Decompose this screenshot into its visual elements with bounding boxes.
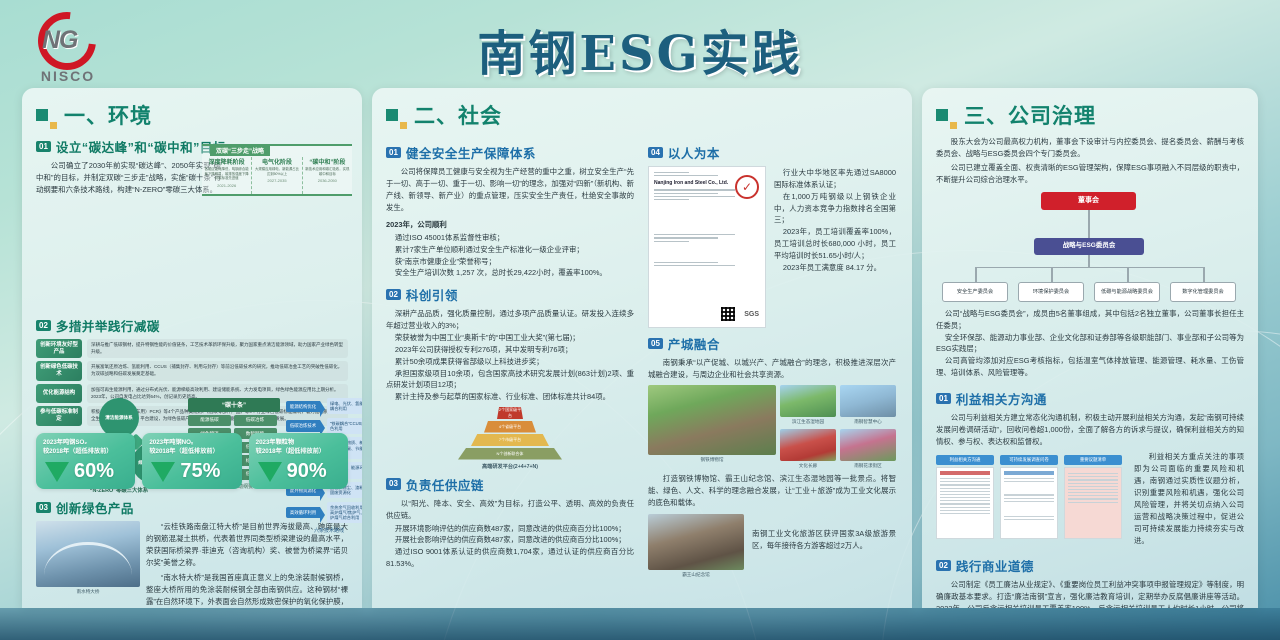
photo-caption: 南钢智慧中心 (840, 419, 896, 425)
measure-text: 开展富氧还原冶炼、氢能利用、CCUS（捕集封存、利用与封存）等前沿低碳技术的研究… (87, 361, 348, 381)
panel-governance: 三、公司治理 股东大会为公司最高权力机构，董事会下设审计与内控委员会、提名委员会… (922, 88, 1258, 608)
bullet-item: 承担国家级项目10余项，包含国家高技术研究发展计划(863计划)2项、重点研发计… (386, 368, 634, 392)
qr-code-icon (721, 307, 735, 321)
badge-number: 01 (936, 393, 951, 404)
bullet-item: 安全生产培训次数 1,257 次，总时长29,422小时，覆盖率100%。 (386, 267, 634, 279)
stat-row: 75% (149, 460, 234, 483)
subsection-title: 以人为本 (668, 143, 720, 162)
strategy-step-desc: 大规模应用绿电，新能源占比达到50%以上 (254, 167, 299, 176)
stakeholder-tab: 重要议题清单 (1064, 455, 1122, 465)
org-node-leaf: 安全生产委员会 (942, 282, 1008, 302)
square-green-icon (36, 109, 48, 121)
section-header-society: 二、社会 (386, 100, 898, 130)
stat-label: 2023年吨钢SO₂较2018年（超低排放前） (43, 439, 128, 456)
badge-number: 02 (36, 320, 51, 331)
org-node-leaf: 数字化管理委员会 (1170, 282, 1236, 302)
tech-route-row: 高效循环利用余热余气回收利用、高炉煤气/焦炉气、转炉煤气综合利用 (286, 502, 362, 524)
section-title: 三、公司治理 (964, 100, 1096, 130)
stat-row: 60% (43, 460, 128, 483)
org-connector (1088, 210, 1090, 238)
pyramid-caption: 高端研发平台(2+4+7+N) (386, 463, 634, 470)
pyramid-level: 7个市级平台 (471, 434, 549, 446)
screenshot-material-topics (936, 467, 994, 539)
three-step-strategy-chart: 双碳“三步走”战略 深度降耗阶段 各能区能耗降低，吨钢综合能耗下降明显，碳排放强… (202, 144, 352, 196)
bullet-item: 2023年，员工培训覆盖率100%，员工培训总时长680,000 小时，员工平均… (774, 226, 896, 262)
tech-route-tag: 能源结构优化 (286, 401, 320, 412)
ten-measures-header: “碳十条” (188, 398, 280, 412)
measure-row: 创新绿色低碳技术开展富氧还原冶炼、氢能利用、CCUS（捕集封存、利用与封存）等前… (36, 361, 348, 381)
gov-01-side-body: 利益相关方重点关注的事项即为公司面临的重要风险和机遇，南钢通过实质性议题分析，识… (1134, 451, 1244, 547)
bullet-item: 开展社会影响评估的供应商数487家，同意改进的供应商百分比100%； (386, 534, 634, 546)
emission-stat-cards: 2023年吨钢SO₂较2018年（超低排放前）60%2023年吨钢NOₓ较201… (36, 433, 348, 489)
subsection-title: 负责任供应链 (406, 475, 484, 494)
photo-caption: 南钢花漾街区 (840, 463, 896, 469)
stat-card: 2023年颗粒物较2018年（超低排放前）90% (249, 433, 348, 489)
stat-row: 90% (256, 460, 341, 483)
stat-label: 2023年吨钢NOₓ较2018年（超低排放前） (149, 439, 234, 456)
nzero-circle: 清洁能源体系 (99, 398, 139, 438)
bullet-item: 荣获被誉为中国工业“奥斯卡”的“中国工业大奖”(第七届)； (386, 332, 634, 344)
bullet-item: 累计主持及参与起草的国家标准、行业标准、团体标准共计84项。 (386, 391, 634, 403)
photo-smart-center (840, 385, 896, 417)
strategy-step: 深度降耗阶段 各能区能耗降低，吨钢综合能耗下降明显，碳排放强度下降到碳标准先进值… (202, 157, 252, 194)
badge-number: 01 (36, 141, 51, 152)
panel-society: 二、社会 01 健全安全生产保障体系 公司将保障员工健康与安全视为生产经营的重中… (372, 88, 912, 608)
bullet-item: 2023年公司获得授权专利276项，其中发明专利76项； (386, 344, 634, 356)
stat-card: 2023年吨钢SO₂较2018年（超低排放前）60% (36, 433, 135, 489)
stat-value: 60% (74, 460, 114, 483)
bullet-item: 公司高管均添加对应ESG考核指标，包括温室气体排放管理、能源管理、耗水量、工伤管… (936, 355, 1244, 379)
photo-caption: 霸王山纪念馆 (648, 572, 744, 578)
stat-value: 90% (287, 460, 327, 483)
soc-01-bullets: 通过ISO 45001体系监督性审核；累计7家生产单位顺利通过安全生产标准化一级… (386, 232, 634, 279)
measure-text: 深耕与推广低碳钢材，提升特钢性能的价值链条，工艺技术革新环保升级，聚力国家重点清… (87, 339, 348, 359)
badge-number: 03 (386, 478, 401, 489)
ten-measure-item: 能源低碳 (188, 415, 231, 426)
six-routes-caption: 六条技术路线 (286, 527, 362, 534)
soc-01-year-lead: 2023年，公司顺利 (386, 219, 634, 231)
tech-route-desc: 绿电、光伏、氢能源耦合利用 (327, 398, 362, 415)
sgs-mark: SGS (744, 311, 759, 318)
strategy-step-years: 2027-2035 (254, 178, 299, 183)
photo-steel-museum (648, 385, 776, 455)
strategy-step-name: “碳中和”阶段 (305, 157, 350, 166)
soc-03-bullets: 开展环境影响评估的供应商数487家，同意改进的供应商百分比100%；开展社会影响… (386, 523, 634, 570)
photo-flower-street (840, 429, 896, 461)
down-arrow-icon (151, 462, 175, 482)
subsection-header-soc-01: 01 健全安全生产保障体系 (386, 143, 634, 162)
env-01-body: 公司确立了2030年前实现“碳达峰”、2050年实现“碳中和”的目标，并制定双碳… (36, 160, 221, 196)
soc-05-body3: 南钢工业文化旅游区获评国家3A级旅游景区，每年接待各方游客超过2万人。 (752, 514, 896, 552)
stakeholder-tab: 可持续发展调查问卷 (1000, 455, 1058, 465)
strategy-step-years: 2021-2026 (204, 183, 249, 188)
bullet-item: 行业大中华地区率先通过SA8000国际标准体系认证； (774, 167, 896, 191)
photo-caption: 南水特大桥 (36, 589, 140, 595)
stat-label: 2023年颗粒物较2018年（超低排放前） (256, 439, 341, 456)
photo-culture-corridor (780, 429, 836, 461)
measure-tag: 创新绿色低碳技术 (36, 361, 82, 381)
badge-number: 02 (936, 560, 951, 571)
sa8000-certificate-image: Nanjing Iron and Steel Co., Ltd. ✓ SGS (648, 166, 766, 328)
org-connector (1088, 255, 1090, 267)
org-connector (975, 267, 977, 282)
strategy-step: “碳中和”阶段 新技术应用和碳汇吸收，实现碳中和目标 2036-2050 (303, 157, 352, 194)
stakeholder-tabs: 利益相关方沟通可持续发展调查问卷重要议题清单 (936, 455, 1126, 465)
org-node-leaf: 环境保护委员会 (1018, 282, 1084, 302)
photo-wetland-park (780, 385, 836, 417)
down-arrow-icon (45, 462, 69, 482)
stat-value: 75% (180, 460, 220, 483)
photo-caption: 钢铁博物馆 (648, 457, 776, 463)
org-node-leaf: 低碳与能源战略委员会 (1094, 282, 1160, 302)
bullet-item: 累计7家生产单位顺利通过安全生产标准化一级企业评审； (386, 244, 634, 256)
square-yellow-icon (400, 122, 407, 129)
section-title: 二、社会 (414, 100, 502, 130)
bullet-item: 安全环保部、能源动力事业部、企业文化部和证券部等各级职能部门、事业部和子公司等为… (936, 332, 1244, 356)
env-03-p2: “南水特大桥”是我国首座真正意义上的免涂装耐候钢桥，整座大桥所用的免涂装耐候钢全… (146, 572, 348, 608)
gov-bullets: 公司“战略与ESG委员会”，成员由5名董事组成，其中包括2名独立董事，公司董事长… (936, 308, 1244, 379)
subsection-header-soc-04: 04 以人为本 (648, 143, 896, 162)
section-header-environment: 一、环境 (36, 100, 348, 130)
strategy-step-name: 深度降耗阶段 (204, 157, 249, 166)
org-connector (975, 267, 1203, 269)
pyramid-level: 2个国家级平台 (497, 407, 523, 419)
badge-number: 02 (386, 289, 401, 300)
bullet-item: 公司“战略与ESG委员会”，成员由5名董事组成，其中包括2名独立董事，公司董事长… (936, 308, 1244, 332)
tech-route-desc: 余热余气回收利用、高炉煤气/焦炉气、转炉煤气综合利用 (327, 502, 362, 524)
gov-intro-2: 公司已建立覆盖全面、权责清晰的ESG管理架构，保障ESG事项融入不同层级的职责中… (936, 162, 1244, 186)
tech-route-desc: “铁碳耦合”CCUS绿色利用 (327, 418, 362, 435)
stakeholder-tab: 利益相关方沟通 (936, 455, 994, 465)
photo-bawangshan-memorial (648, 514, 744, 570)
certificate-seal-icon: ✓ (735, 175, 759, 199)
square-green-icon (936, 109, 948, 121)
soc-01-body: 公司将保障员工健康与安全视为生产经营的重中之重，树立安全生产“先于一切、高于一切… (386, 166, 634, 214)
org-connector (1051, 267, 1053, 282)
stakeholder-screenshots (936, 467, 1126, 539)
subsection-title: 利益相关方沟通 (956, 389, 1047, 408)
tech-route-tag: 低碳冶炼技术 (286, 420, 320, 431)
measure-row: 创新环境友好型产品深耕与推广低碳钢材，提升特钢性能的价值链条，工艺技术革新环保升… (36, 339, 348, 359)
soc-05-body2: 打造钢铁博物馆、霸王山纪念馆、滨江生态湿地园等一批景点。将智能、绿色、人文、科学… (648, 473, 896, 509)
badge-number: 05 (648, 338, 663, 349)
screenshot-topic-list (1064, 467, 1122, 539)
strategy-step-years: 2036-2050 (305, 178, 350, 183)
soc-04-bullets: 行业大中华地区率先通过SA8000国际标准体系认证；在1,000万吨钢级以上钢铁… (774, 167, 896, 328)
subsection-title: 产城融合 (668, 334, 720, 353)
subsection-title: 践行商业道德 (956, 556, 1034, 575)
bullet-item: 开展环境影响评估的供应商数487家，同意改进的供应商百分比100%； (386, 523, 634, 535)
subsection-header-soc-02: 02 科创引领 (386, 285, 634, 304)
photo-caption: 文化长廊 (780, 463, 836, 469)
ten-measure-item: 低碳冶炼 (234, 415, 277, 426)
down-arrow-icon (258, 462, 282, 482)
bullet-item: 获“南京市健康企业”荣誉称号； (386, 256, 634, 268)
section-title: 一、环境 (64, 100, 152, 130)
org-node-esg-committee: 战略与ESG委员会 (1034, 238, 1144, 255)
subsection-title: 设立“碳达峰”和“碳中和”目标 (56, 137, 226, 156)
subsection-title: 健全安全生产保障体系 (406, 143, 536, 162)
badge-number: 04 (648, 147, 663, 158)
strategy-step: 电气化阶段 大规模应用绿电，新能源占比达到50%以上 2027-2035 (252, 157, 302, 194)
bullet-item: 通过ISO 45001体系监督性审核； (386, 232, 634, 244)
section-header-governance: 三、公司治理 (936, 100, 1244, 130)
measure-tag: 创新环境友好型产品 (36, 339, 82, 359)
tech-route-tag: 高效循环利用 (286, 507, 320, 518)
badge-number: 01 (386, 147, 401, 158)
square-yellow-icon (950, 122, 957, 129)
photo-bridge (36, 521, 140, 587)
square-yellow-icon (50, 122, 57, 129)
strategy-step-desc: 各能区能耗降低，吨钢综合能耗下降明显，碳排放强度下降到碳标准先进值 (204, 167, 249, 181)
pyramid-level: N个创新联合体 (458, 448, 562, 460)
rnd-platform-pyramid: 2个国家级平台4个省级平台7个市级平台N个创新联合体 (455, 407, 565, 460)
soc-05-body: 南钢秉承“以产促城、以城兴产、产城融合”的理念，积极推进深层次产城融合建设，与周… (648, 357, 896, 381)
stat-card: 2023年吨钢NOₓ较2018年（超低排放前）75% (142, 433, 241, 489)
bullet-item: 在1,000万吨钢级以上钢铁企业中，人力资本竞争力指数排名全国第三； (774, 191, 896, 227)
bullet-item: 深耕产品品质，强化质量控制，通过多项产品质量认证。研发投入连续多年超过营业收入的… (386, 308, 634, 332)
screenshot-survey-form (1000, 467, 1058, 539)
subsection-header-env-02: 02 多措并举践行减碳 (36, 316, 348, 335)
strategy-step-desc: 新技术应用和碳汇吸收，实现碳中和目标 (305, 167, 350, 176)
bullet-item: 2023年员工满意度 84.17 分。 (774, 262, 896, 274)
gov-02-body: 公司制定《员工廉洁从业规定》、《重要岗位员工利益冲突事项申报管理规定》等制度，明… (936, 579, 1244, 608)
bullet-item: 通过ISO 9001体系认证的供应商数1,704家，通过认证的供应商百分比81.… (386, 546, 634, 570)
subsection-title: 创新绿色产品 (56, 498, 134, 517)
esg-org-chart: 董事会 战略与ESG委员会 安全生产委员会 环境保护委员会 低碳与能源战略委员会… (936, 192, 1244, 304)
badge-number: 03 (36, 502, 51, 513)
subsection-header-soc-05: 05 产城融合 (648, 334, 896, 353)
tech-route-row: 低碳冶炼技术“铁碳耦合”CCUS绿色利用 (286, 418, 362, 435)
page-title: 南钢ESG实践 (0, 14, 1280, 84)
subsection-title: 科创引领 (406, 285, 458, 304)
soc-03-body: 以“阳光、降本、安全、高效”为目标，打造公平、透明、高效的负责任供应链。 (386, 498, 634, 522)
gov-intro-1: 股东大会为公司最高权力机构，董事会下设审计与内控委员会、提名委员会、薪酬与考核委… (936, 136, 1244, 160)
strategy-title: 双碳“三步走”战略 (210, 145, 270, 156)
subsection-header-soc-03: 03 负责任供应链 (386, 475, 634, 494)
soc-02-bullets: 深耕产品品质，强化质量控制，通过多项产品质量认证。研发投入连续多年超过营业收入的… (386, 308, 634, 403)
bottom-band (0, 608, 1280, 640)
subsection-header-gov-01: 01 利益相关方沟通 (936, 389, 1244, 408)
subsection-header-gov-02: 02 践行商业道德 (936, 556, 1244, 575)
photo-caption: 滨江生态湿地园 (780, 419, 836, 425)
square-green-icon (386, 109, 398, 121)
strategy-step-name: 电气化阶段 (254, 157, 299, 166)
org-connector (1203, 267, 1205, 282)
panel-environment: 一、环境 01 设立“碳达峰”和“碳中和”目标 公司确立了2030年前实现“碳达… (22, 88, 362, 608)
org-connector (1127, 267, 1129, 282)
tech-route-row: 能源结构优化绿电、光伏、氢能源耦合利用 (286, 398, 362, 415)
gov-01-body: 公司与利益相关方建立常态化沟通机制，积极主动开展利益相关方沟通，发起“南钢可持续… (936, 412, 1244, 448)
pyramid-level: 4个省级平台 (484, 421, 536, 433)
subsection-title: 多措并举践行减碳 (56, 316, 160, 335)
org-node-board: 董事会 (1041, 192, 1136, 210)
bullet-item: 累计50余项成果获得省部级以上科技进步奖； (386, 356, 634, 368)
